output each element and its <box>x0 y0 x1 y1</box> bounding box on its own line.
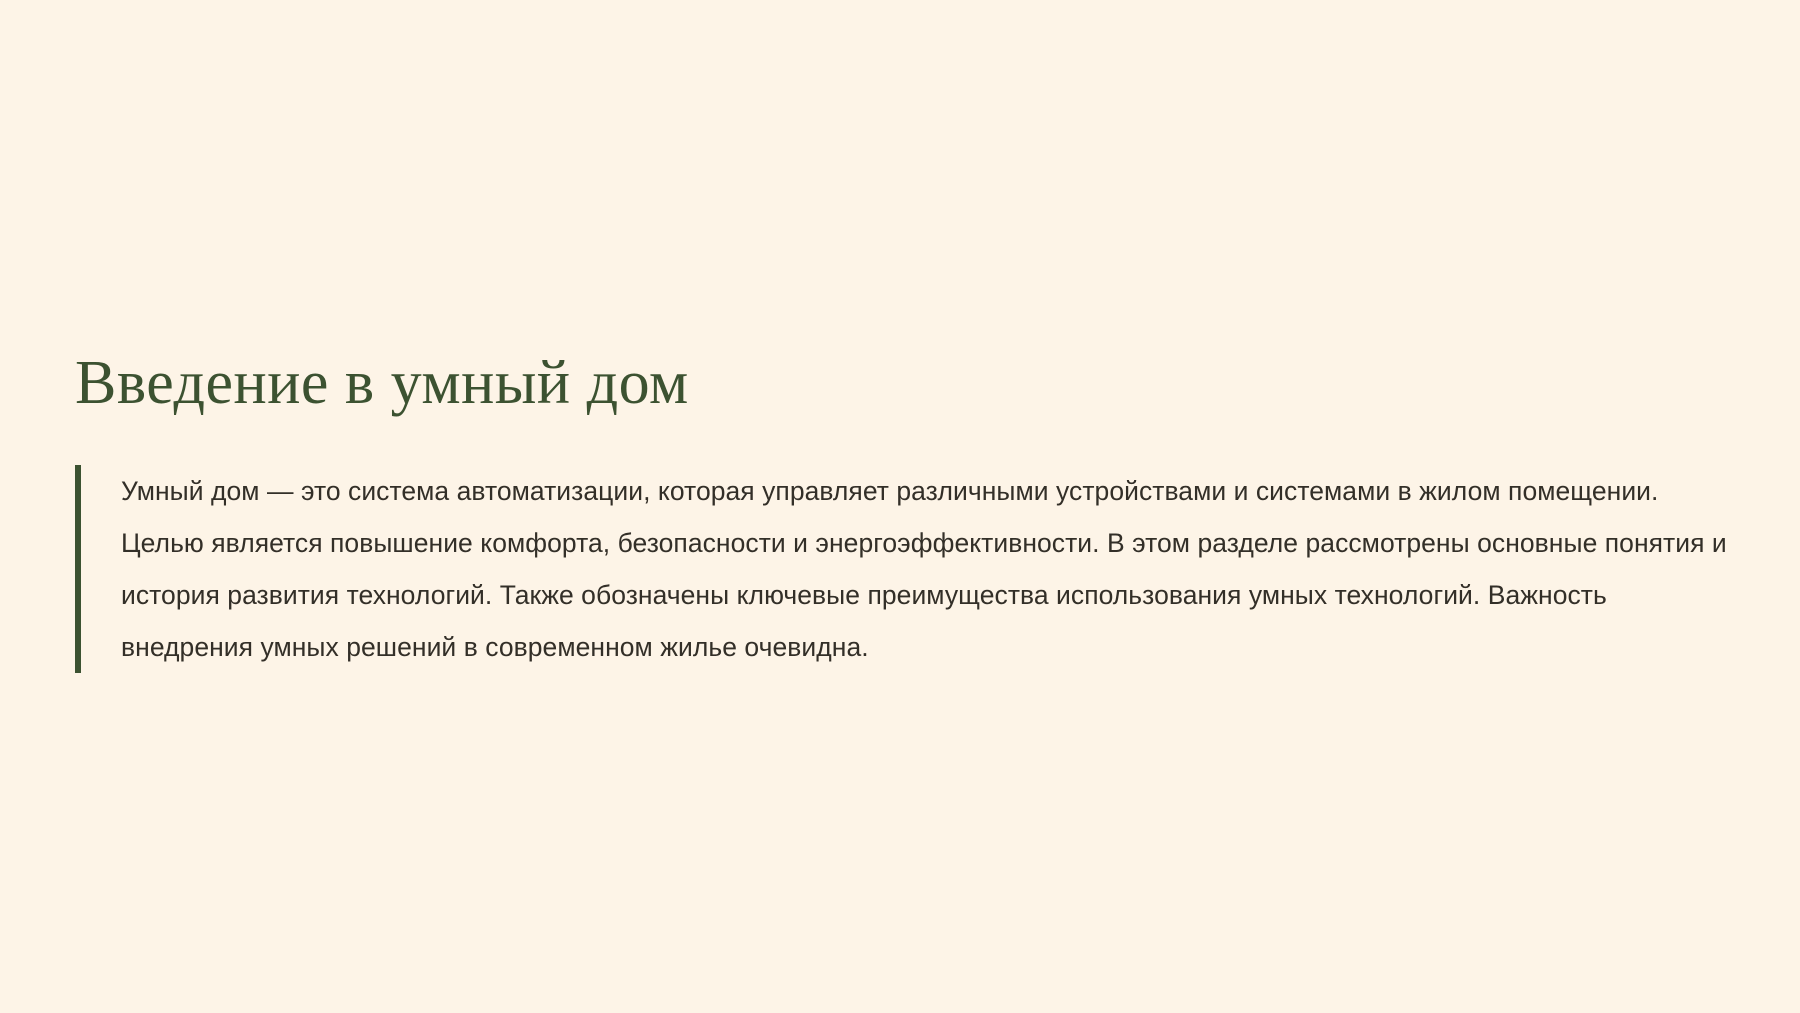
body-quote-block: Умный дом — это система автоматизации, к… <box>75 465 1735 673</box>
slide-root: Введение в умный дом Умный дом — это сис… <box>0 0 1800 1013</box>
body-paragraph: Умный дом — это система автоматизации, к… <box>81 465 1735 673</box>
slide-content: Введение в умный дом Умный дом — это сис… <box>75 350 1735 673</box>
page-title: Введение в умный дом <box>75 350 1735 417</box>
